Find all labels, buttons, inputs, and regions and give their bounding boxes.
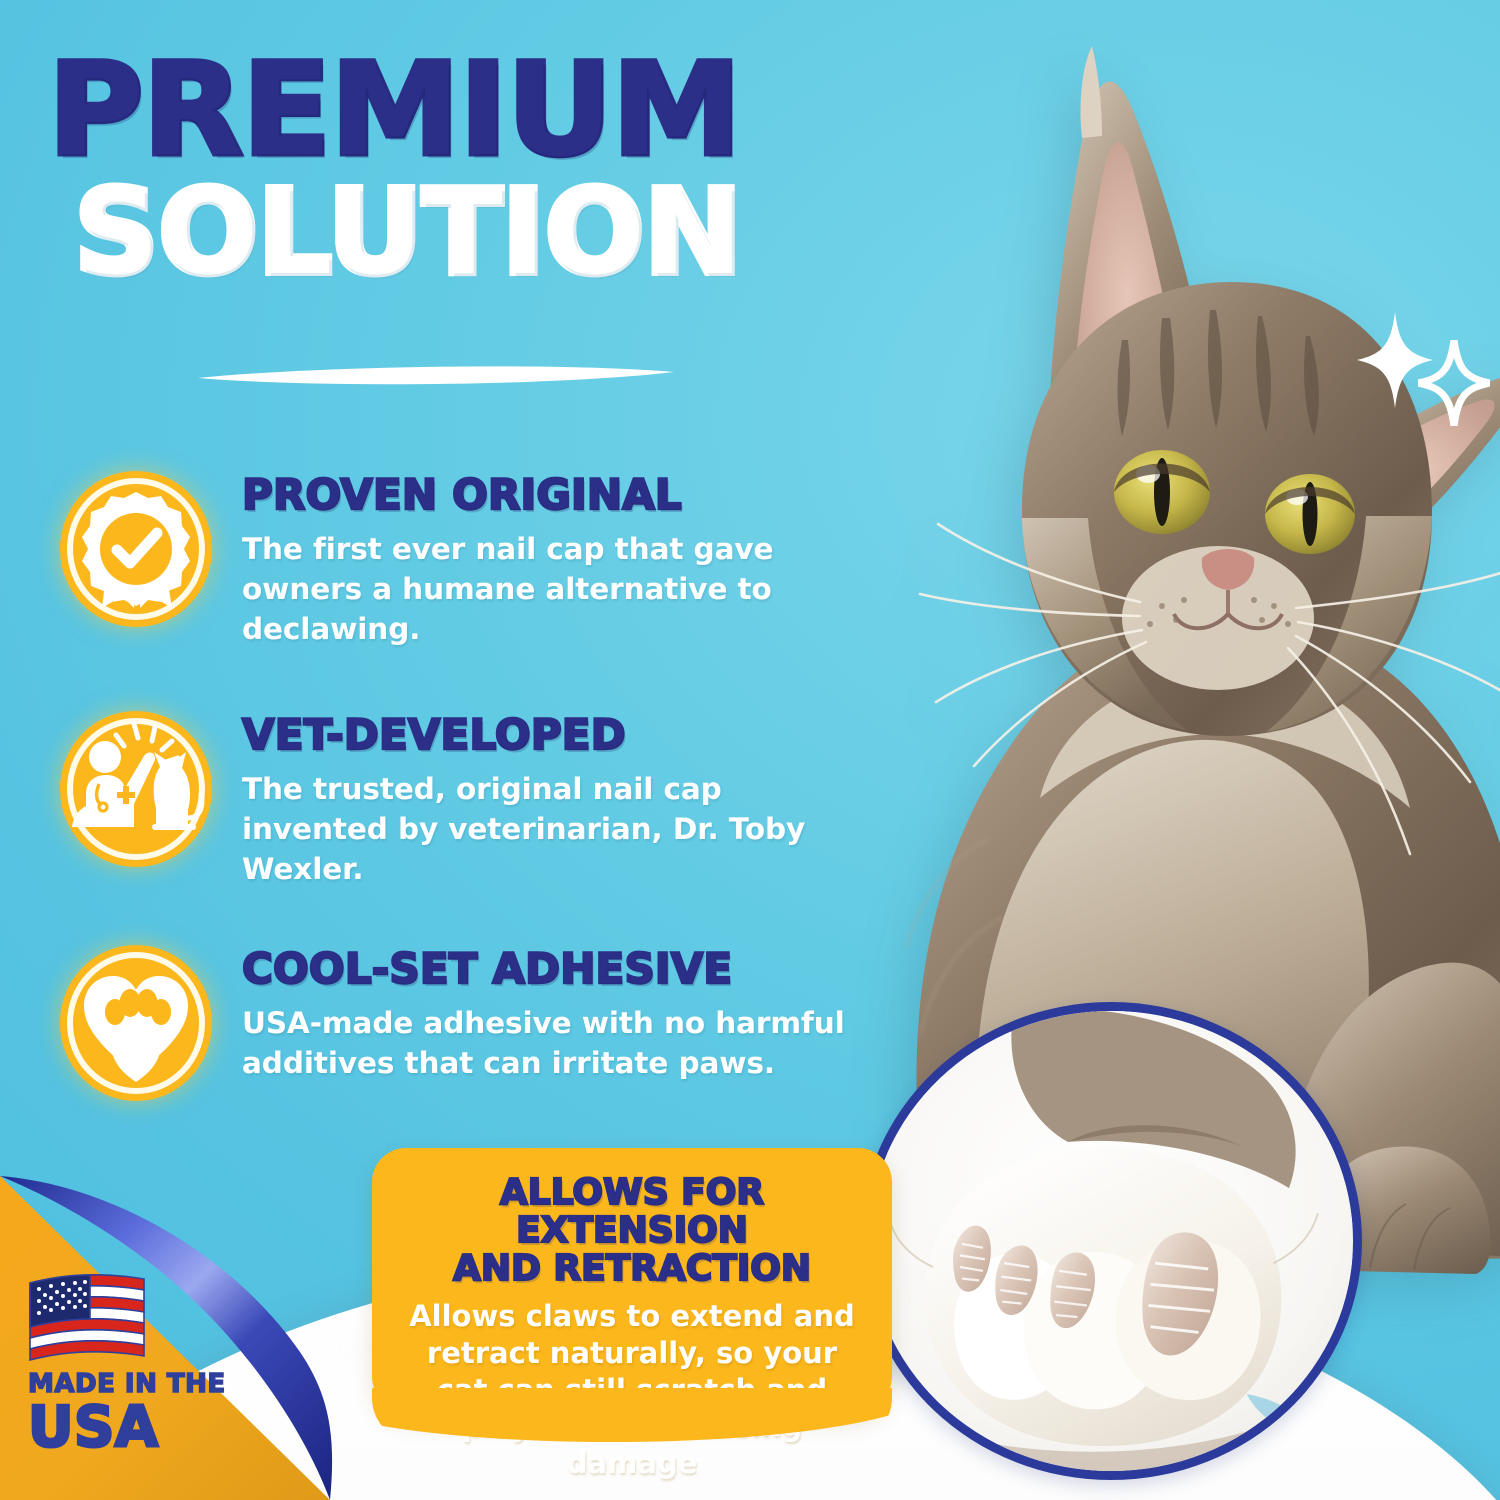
title-line-solution: SOLUTION <box>74 176 878 289</box>
callout-heading-line1: ALLOWS FOR EXTENSION <box>398 1174 866 1250</box>
feature-heading: COOL-SET ADHESIVE <box>242 948 862 991</box>
page-title: PREMIUM SOLUTION <box>48 52 878 289</box>
award-ribbon-icon <box>56 468 216 630</box>
feature-item-vet-developed: VET-DEVELOPED The trusted, original nail… <box>56 702 862 889</box>
heart-paw-icon <box>56 942 216 1104</box>
feature-body: The first ever nail cap that gave owners… <box>242 529 862 649</box>
usa-flag-icon <box>28 1269 188 1361</box>
made-in-usa-badge: MADE IN THE USA <box>28 1269 238 1458</box>
callout-heading-line2: AND RETRACTION <box>398 1250 866 1288</box>
made-in-usa-line2: USA <box>28 1399 238 1458</box>
swoosh-divider-icon <box>196 360 676 390</box>
veterinarian-high-five-cat-icon <box>56 708 216 870</box>
feature-heading: PROVEN ORIGINAL <box>242 474 862 517</box>
feature-item-cool-set-adhesive: COOL-SET ADHESIVE USA-made adhesive with… <box>56 936 862 1104</box>
feature-body: The trusted, original nail cap invented … <box>242 769 862 889</box>
extension-retraction-callout: ALLOWS FOR EXTENSION AND RETRACTION Allo… <box>372 1148 892 1416</box>
feature-body: USA-made adhesive with no harmful additi… <box>242 1003 862 1083</box>
infographic-page: PREMIUM SOLUTION PROVEN ORIG <box>0 0 1500 1500</box>
sparkle-outline-icon <box>1418 340 1490 426</box>
made-in-usa-line1: MADE IN THE <box>28 1371 238 1397</box>
title-line-premium: PREMIUM <box>48 52 895 170</box>
paw-closeup-inset <box>860 1002 1362 1480</box>
callout-body: Allows claws to extend and retract natur… <box>398 1298 866 1481</box>
feature-item-proven-original: PROVEN ORIGINAL The first ever nail cap … <box>56 462 862 649</box>
feature-heading: VET-DEVELOPED <box>242 714 862 757</box>
